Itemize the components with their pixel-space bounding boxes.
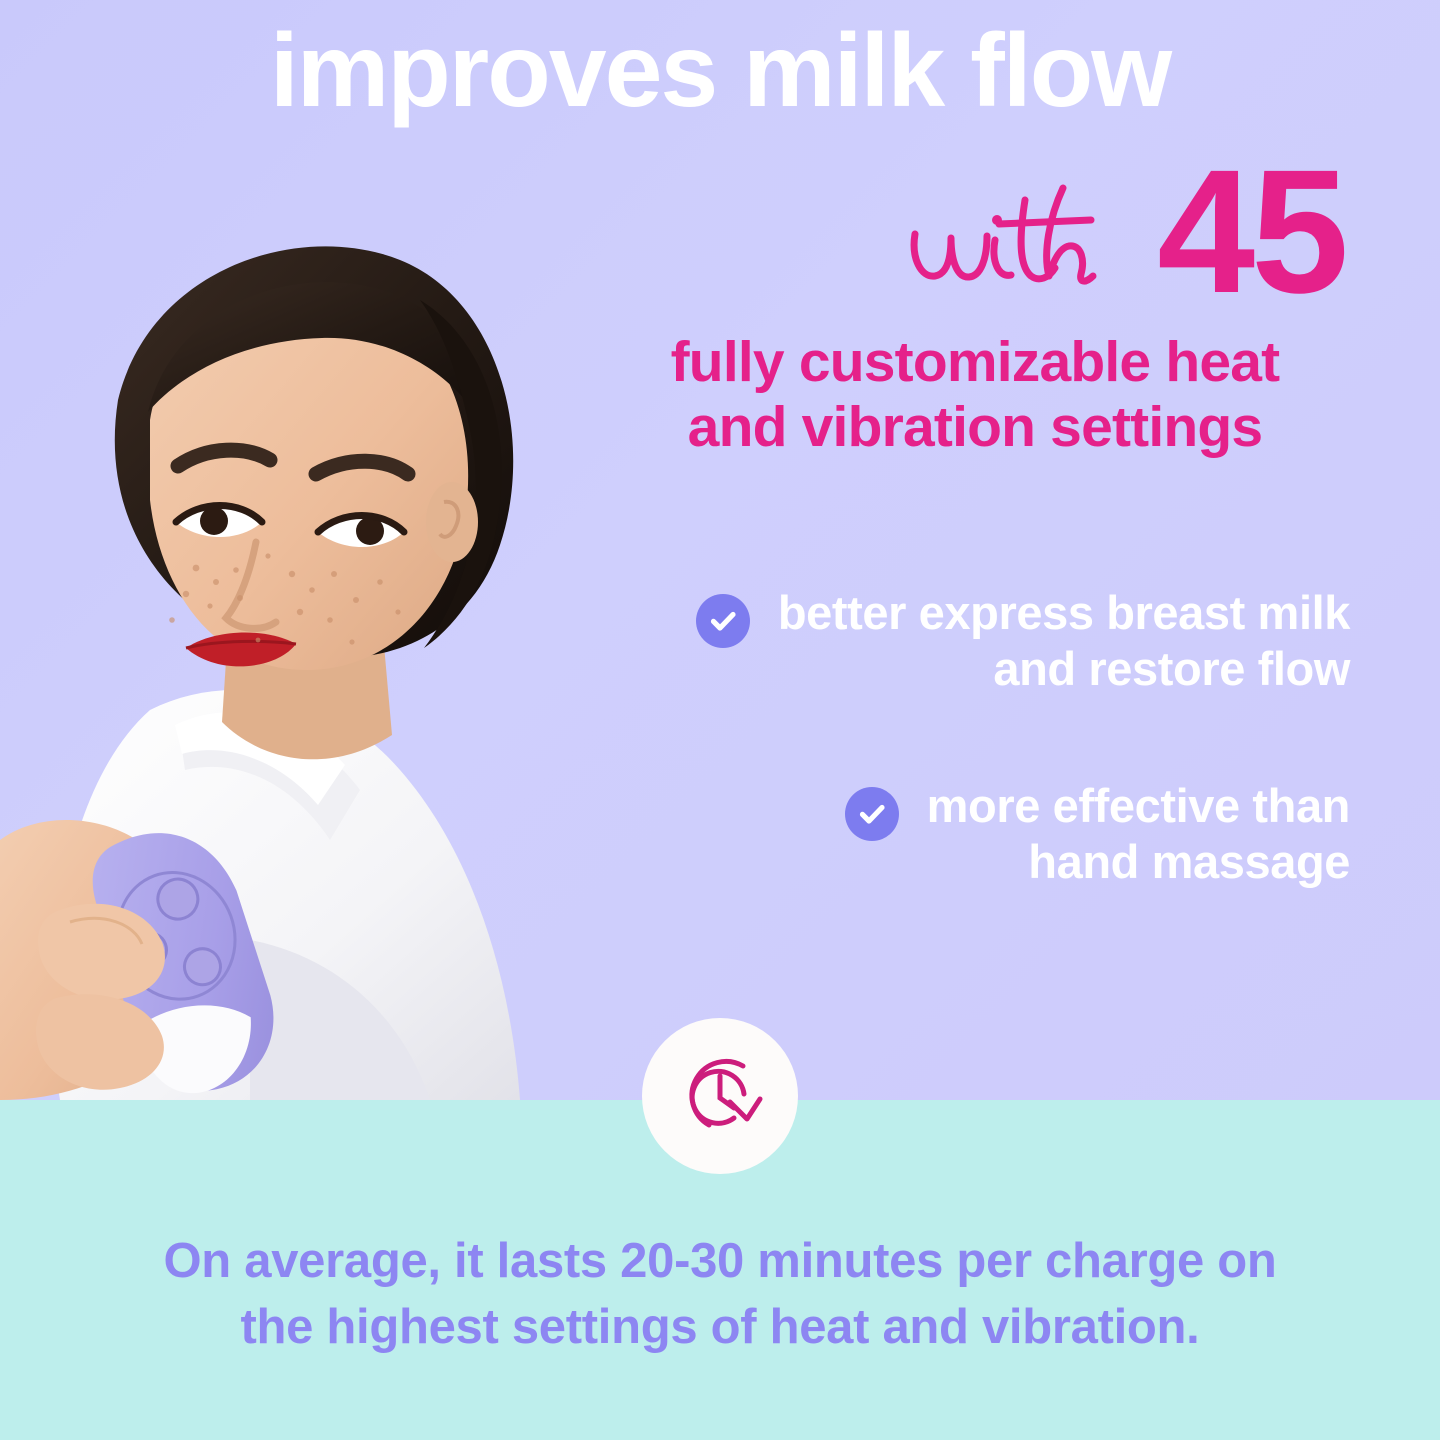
with-count-group: 45 bbox=[903, 160, 1345, 304]
footer-line-2: the highest settings of heat and vibrati… bbox=[70, 1294, 1370, 1360]
subtitle-line-1: fully customizable heat bbox=[605, 330, 1345, 395]
benefit-2-line-2: hand massage bbox=[927, 834, 1350, 890]
subtitle-block: fully customizable heat and vibration se… bbox=[605, 330, 1345, 460]
model-photo bbox=[0, 150, 640, 1100]
benefit-text-1: better express breast milk and restore f… bbox=[778, 585, 1350, 698]
setting-count: 45 bbox=[1157, 160, 1345, 304]
benefit-1-line-1: better express breast milk bbox=[778, 585, 1350, 641]
subtitle-line-2: and vibration settings bbox=[605, 395, 1345, 460]
benefit-item-1: better express breast milk and restore f… bbox=[590, 585, 1350, 698]
check-circle-icon bbox=[845, 787, 899, 841]
footer-line-1: On average, it lasts 20-30 minutes per c… bbox=[70, 1228, 1370, 1294]
battery-duration-badge bbox=[642, 1018, 798, 1174]
benefit-1-line-2: and restore flow bbox=[778, 641, 1350, 697]
check-circle-icon bbox=[696, 594, 750, 648]
benefit-2-line-1: more effective than bbox=[927, 778, 1350, 834]
page-title: improves milk flow bbox=[0, 18, 1440, 124]
benefit-text-2: more effective than hand massage bbox=[927, 778, 1350, 891]
with-script-word bbox=[903, 162, 1123, 292]
benefits-list: better express breast milk and restore f… bbox=[590, 585, 1350, 971]
ad-creative: improves milk flow 45 bbox=[0, 0, 1440, 1440]
clock-rotate-icon bbox=[668, 1044, 772, 1148]
footer-note: On average, it lasts 20-30 minutes per c… bbox=[70, 1228, 1370, 1360]
benefit-item-2: more effective than hand massage bbox=[590, 778, 1350, 891]
